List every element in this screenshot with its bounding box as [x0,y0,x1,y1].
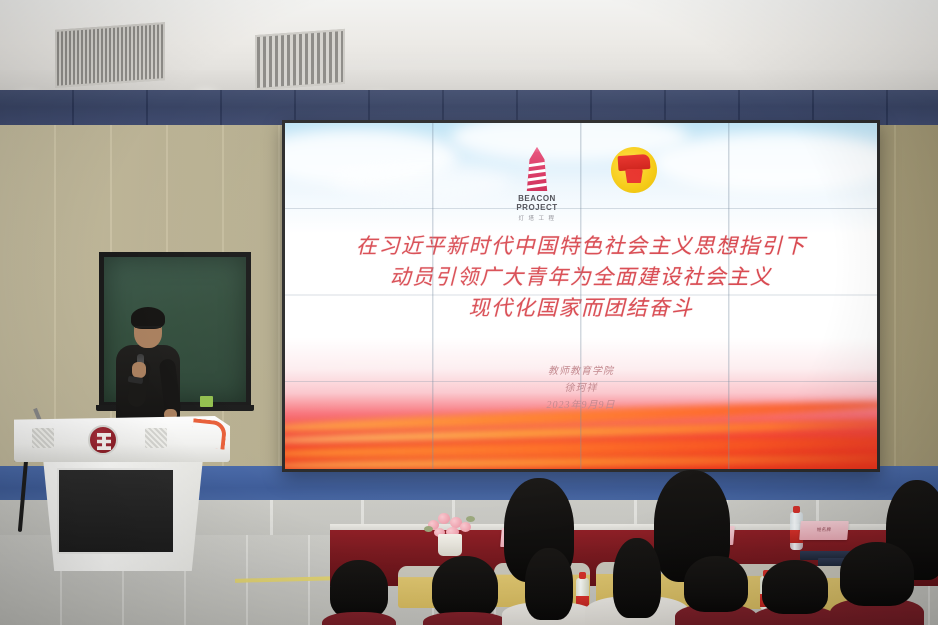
hvac-vent [255,29,345,90]
beacon-lighthouse-icon [520,147,554,191]
slide-logos: BEACON PROJECT 灯 塔 工 程 [285,147,877,222]
star-icon [625,169,643,183]
flower-vase [438,534,462,556]
audience-hair [613,538,661,618]
glasses-icon [135,326,161,332]
audience-hair [525,548,572,620]
flag-icon [618,154,651,171]
eraser [200,396,213,407]
slide-subtitle-name: 徐珂祥 [285,380,877,397]
communist-youth-league-emblem [611,147,657,193]
lectern-front-panel [57,468,175,554]
slide-title-line-3: 现代化国家而团结奋斗 [285,293,877,324]
lecture-hall-photo: BEACON PROJECT 灯 塔 工 程 在习近平新时代中国特色社会主义思想… [0,0,938,625]
audience-uniform [322,612,396,625]
lectern-accent-stripe [191,418,228,449]
speaker-left-hand [132,362,146,378]
audience-member [512,548,586,625]
speaker-grille [145,428,167,448]
name-card-text: 姓名牌 [800,527,849,533]
slide-subtitle: 教师教育学院 徐珂祥 2023年9月9日 [285,363,877,414]
slide-title: 在习近平新时代中国特色社会主义思想指引下 动员引领广大青年为全面建设社会主义 现… [285,231,877,324]
hvac-vent [55,22,165,88]
speaker-grille [32,428,54,448]
audience-hair [684,556,748,612]
audience-hair [840,542,914,606]
lectern-top [14,416,230,462]
audience-member [840,542,914,625]
beacon-logo-line1: BEACON [505,194,569,203]
leaf [466,516,475,522]
beacon-logo-line3: 灯 塔 工 程 [505,214,569,222]
audience-hair [762,560,828,614]
slide-subtitle-org: 教师教育学院 [285,363,877,380]
audience-member [596,538,678,625]
audience-member [432,556,498,625]
beacon-project-logo: BEACON PROJECT 灯 塔 工 程 [505,147,569,222]
slide-title-line-1: 在习近平新时代中国特色社会主义思想指引下 [285,231,877,262]
university-crest-icon [88,425,118,455]
led-video-wall[interactable]: BEACON PROJECT 灯 塔 工 程 在习近平新时代中国特色社会主义思想… [282,120,880,472]
audience-member [762,560,828,625]
audience-member [684,556,748,625]
slide-subtitle-date: 2023年9月9日 [285,397,877,414]
audience-hair [432,556,498,618]
beacon-logo-line2: PROJECT [505,203,569,212]
audience-member [330,560,388,625]
leaf [424,526,433,532]
slide-title-line-2: 动员引领广大青年为全面建设社会主义 [285,262,877,293]
audience-uniform [423,612,507,625]
flower [438,513,450,524]
audience-hair [330,560,388,618]
flower [460,522,471,532]
lectern [14,416,230,571]
name-card: 姓名牌 [799,521,849,540]
presentation-slide: BEACON PROJECT 灯 塔 工 程 在习近平新时代中国特色社会主义思想… [285,123,877,469]
